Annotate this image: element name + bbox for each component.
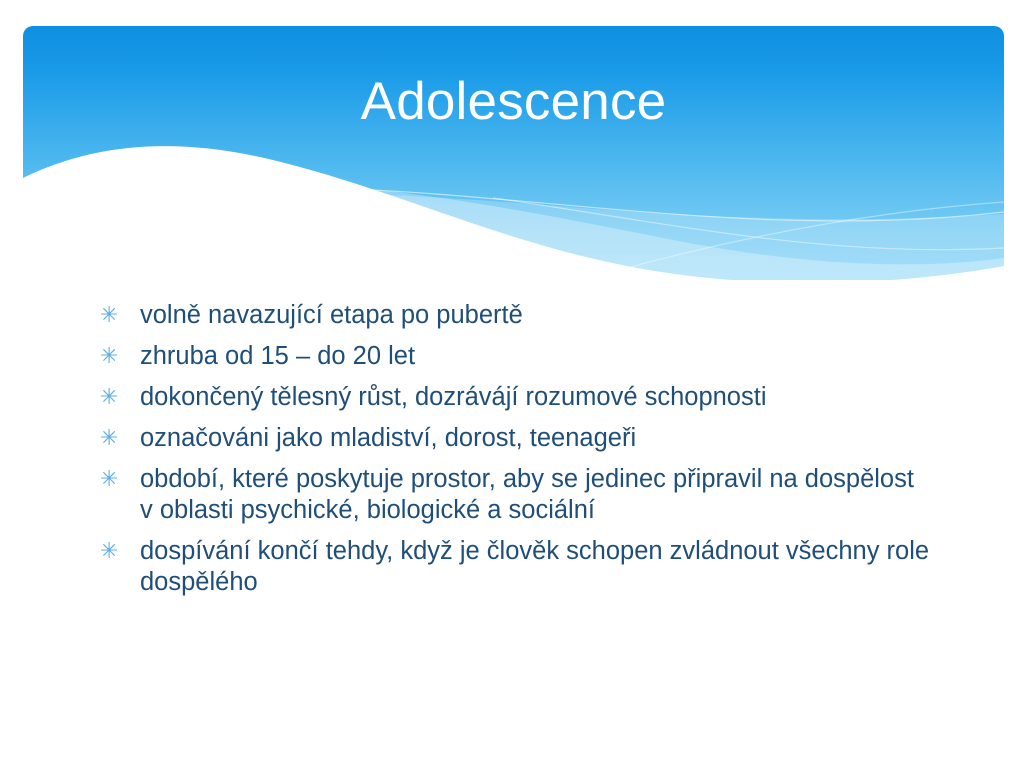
list-item: ✳ zhruba od 15 – do 20 let xyxy=(100,341,980,372)
list-item-text: volně navazující etapa po pubertě xyxy=(140,300,930,331)
slide-header-banner xyxy=(23,26,1004,280)
list-item: ✳ období, které poskytuje prostor, aby s… xyxy=(100,464,980,526)
asterisk-bullet-icon: ✳ xyxy=(100,341,140,372)
list-item: ✳ dospívání končí tehdy, když je člověk … xyxy=(100,536,980,598)
asterisk-bullet-icon: ✳ xyxy=(100,423,140,454)
list-item: ✳ dokončený tělesný růst, dozrávájí rozu… xyxy=(100,382,980,413)
header-wave-graphic xyxy=(23,26,1004,280)
list-item-text: zhruba od 15 – do 20 let xyxy=(140,341,930,372)
list-item: ✳ označováni jako mladiství, dorost, tee… xyxy=(100,423,980,454)
asterisk-bullet-icon: ✳ xyxy=(100,536,140,567)
list-item: ✳ volně navazující etapa po pubertě xyxy=(100,300,980,331)
slide-title: Adolescence xyxy=(23,72,1004,133)
slide-body-bullet-list: ✳ volně navazující etapa po pubertě ✳ zh… xyxy=(100,300,980,608)
asterisk-bullet-icon: ✳ xyxy=(100,382,140,413)
list-item-text: označováni jako mladiství, dorost, teena… xyxy=(140,423,930,454)
list-item-text: dokončený tělesný růst, dozrávájí rozumo… xyxy=(140,382,930,413)
presentation-slide: Adolescence ✳ volně navazující etapa po … xyxy=(0,0,1024,768)
asterisk-bullet-icon: ✳ xyxy=(100,464,140,495)
asterisk-bullet-icon: ✳ xyxy=(100,300,140,331)
list-item-text: období, které poskytuje prostor, aby se … xyxy=(140,464,930,526)
list-item-text: dospívání končí tehdy, když je člověk sc… xyxy=(140,536,930,598)
